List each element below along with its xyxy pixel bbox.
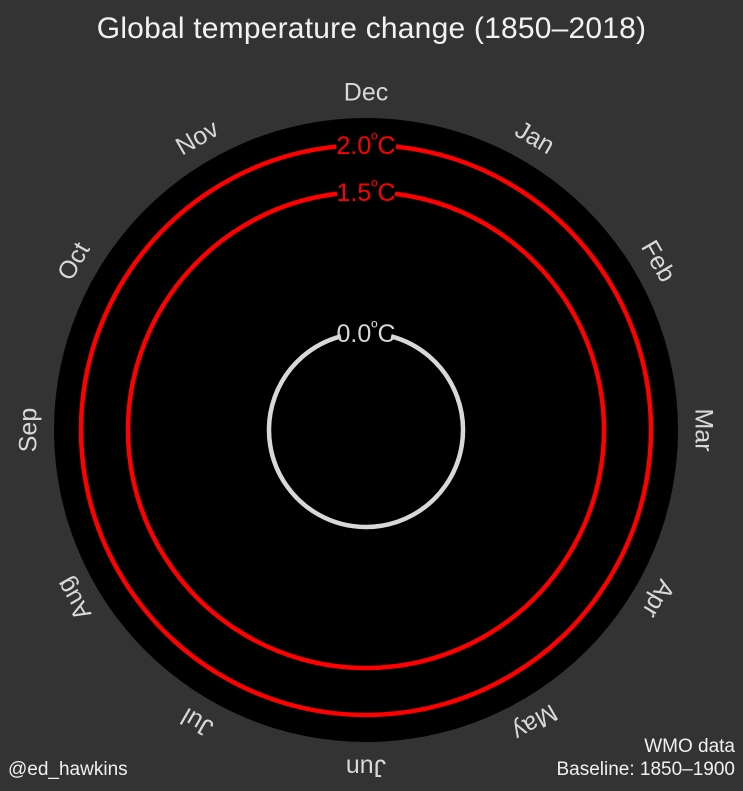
author-credit: @ed_hawkins: [8, 758, 128, 781]
chart-canvas: Global temperature change (1850–2018) De…: [0, 0, 743, 791]
month-label-dec: Dec: [344, 79, 388, 107]
data-source: WMO data: [556, 735, 735, 758]
month-label-mar: Mar: [689, 408, 717, 451]
month-label-sep: Sep: [15, 408, 43, 452]
climate-spiral-plot: DecJanFebMarAprMayJunJulAugSepOctNov 0.0…: [0, 0, 743, 791]
month-label-jun: Jun: [346, 753, 386, 781]
month-label-apr: Apr: [636, 575, 680, 623]
baseline-period: Baseline: 1850–1900: [556, 758, 735, 781]
month-label-oct: Oct: [52, 237, 96, 285]
month-label-jan: Jan: [510, 116, 559, 160]
zero-ring-label: 0.0ºC: [336, 318, 395, 349]
data-attribution: WMO data Baseline: 1850–1900: [556, 735, 735, 781]
month-label-aug: Aug: [51, 572, 97, 625]
two-point-zero-ring-label: 2.0ºC: [336, 130, 395, 161]
month-label-nov: Nov: [171, 114, 224, 161]
month-label-feb: Feb: [635, 236, 681, 287]
plot-disc: [54, 118, 678, 742]
month-label-jul: Jul: [176, 702, 218, 742]
month-label-may: May: [507, 698, 562, 746]
one-point-five-ring-label: 1.5ºC: [336, 177, 395, 208]
